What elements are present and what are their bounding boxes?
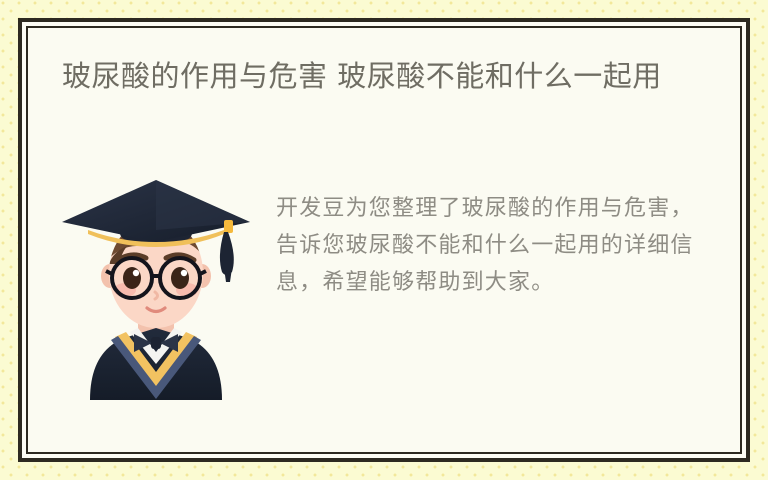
graduate-student-avatar: [52, 168, 262, 400]
article-body-row: 开发豆为您整理了玻尿酸的作用与危害，告诉您玻尿酸不能和什么一起用的详细信息，希望…: [28, 168, 740, 400]
poster-page: 玻尿酸的作用与危害 玻尿酸不能和什么一起用: [0, 0, 768, 480]
article-body-text: 开发豆为您整理了玻尿酸的作用与危害，告诉您玻尿酸不能和什么一起用的详细信息，希望…: [276, 190, 712, 301]
inner-frame: 玻尿酸的作用与危害 玻尿酸不能和什么一起用: [26, 26, 742, 454]
graduation-cap-icon: [62, 180, 250, 247]
tassel-icon: [220, 220, 234, 282]
outer-frame: 玻尿酸的作用与危害 玻尿酸不能和什么一起用: [18, 18, 750, 462]
graduate-illustration-svg: [52, 168, 262, 400]
card-content: 玻尿酸的作用与危害 玻尿酸不能和什么一起用: [28, 28, 740, 452]
page-title: 玻尿酸的作用与危害 玻尿酸不能和什么一起用: [62, 54, 702, 99]
